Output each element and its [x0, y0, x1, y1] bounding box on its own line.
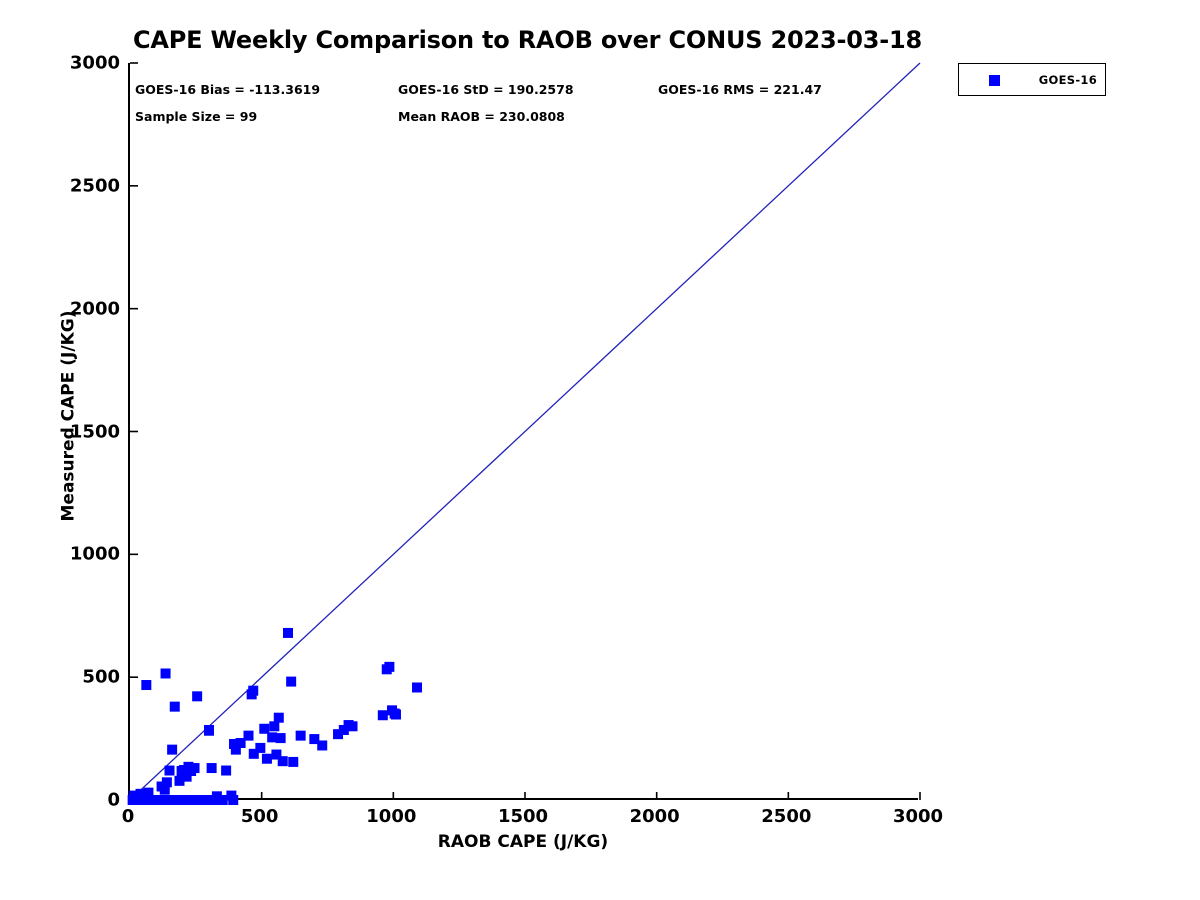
- legend-marker-icon: [989, 75, 1000, 86]
- data-point-marker: [262, 754, 272, 764]
- data-point-marker: [278, 756, 288, 766]
- data-point-marker: [244, 731, 254, 741]
- data-point-marker: [226, 791, 236, 801]
- data-point-marker: [296, 731, 306, 741]
- x-axis-title: RAOB CAPE (J/KG): [128, 832, 918, 852]
- y-axis-title: Measured CAPE (J/KG): [59, 48, 79, 785]
- data-point-marker: [276, 733, 286, 743]
- data-point-marker: [412, 682, 422, 692]
- x-tick-label: 1500: [498, 806, 548, 827]
- data-point-marker: [259, 724, 269, 734]
- chart-title: CAPE Weekly Comparison to RAOB over CONU…: [0, 26, 1055, 54]
- data-point-marker: [317, 740, 327, 750]
- x-tick-label: 2000: [630, 806, 680, 827]
- data-point-marker: [204, 725, 214, 735]
- x-tick-label: 3000: [893, 806, 943, 827]
- data-point-marker: [378, 710, 388, 720]
- data-point-marker: [274, 713, 284, 723]
- x-tick-label: 1000: [366, 806, 416, 827]
- data-point-marker: [170, 702, 180, 712]
- data-point-marker: [221, 766, 231, 776]
- data-point-marker: [207, 763, 217, 773]
- x-tick-label: 2500: [761, 806, 811, 827]
- chart-figure: CAPE Weekly Comparison to RAOB over CONU…: [0, 0, 1200, 900]
- x-tick-label: 0: [122, 806, 135, 827]
- data-point-marker: [143, 788, 153, 798]
- y-tick-label: 0: [107, 790, 120, 811]
- data-point-marker: [167, 745, 177, 755]
- data-point-marker: [391, 710, 401, 720]
- data-point-marker: [165, 766, 175, 776]
- data-point-marker: [286, 677, 296, 687]
- x-tick-label: 500: [241, 806, 279, 827]
- data-point-marker: [192, 691, 202, 701]
- data-point-marker: [141, 680, 151, 690]
- data-point-marker: [348, 721, 358, 731]
- plot-canvas: [130, 63, 920, 800]
- data-point-marker: [190, 763, 200, 773]
- data-point-marker: [161, 668, 171, 678]
- data-point-marker: [218, 795, 228, 805]
- data-point-marker: [248, 686, 258, 696]
- data-point-marker: [162, 777, 172, 787]
- data-point-marker: [269, 721, 279, 731]
- data-point-marker: [384, 662, 394, 672]
- plot-area: [128, 63, 918, 800]
- y-tick-label: 500: [82, 667, 120, 688]
- data-point-marker: [283, 628, 293, 638]
- legend-label: GOES-16: [1039, 73, 1097, 87]
- data-point-marker: [255, 743, 265, 753]
- data-point-marker: [288, 757, 298, 767]
- legend[interactable]: GOES-16: [958, 63, 1106, 96]
